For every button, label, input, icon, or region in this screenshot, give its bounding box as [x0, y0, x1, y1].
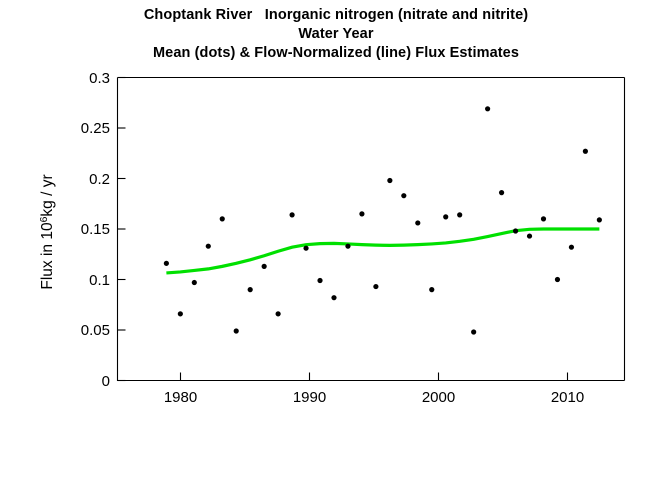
- data-point: [541, 216, 546, 221]
- y-tick-label-0.3: 0.3: [89, 70, 110, 87]
- y-tick-label-0.2: 0.2: [89, 171, 110, 188]
- data-point: [317, 278, 322, 283]
- data-point: [164, 261, 169, 266]
- data-point: [289, 212, 294, 217]
- x-tick-label-1980: 1980: [164, 389, 197, 406]
- y-tick-label-0.1: 0.1: [89, 272, 110, 289]
- data-point: [527, 233, 532, 238]
- data-point: [443, 214, 448, 219]
- plot-area: Flux in 106kg / yr 0.3 0.25 0.2 0.15 0.1…: [0, 0, 672, 480]
- data-point: [569, 245, 574, 250]
- data-point: [401, 193, 406, 198]
- data-point: [248, 287, 253, 292]
- data-point: [485, 106, 490, 111]
- data-point: [415, 220, 420, 225]
- data-point: [206, 244, 211, 249]
- data-point: [499, 190, 504, 195]
- y-tick-label-0.05: 0.05: [81, 322, 110, 339]
- mean-flux-dots: [164, 106, 602, 334]
- y-axis-label-pre: Flux in 10: [39, 222, 56, 290]
- data-point: [192, 280, 197, 285]
- flow-normalized-line: [166, 229, 599, 273]
- data-point: [373, 284, 378, 289]
- data-point: [457, 212, 462, 217]
- y-axis-label-post: kg / yr: [39, 174, 56, 216]
- data-point: [234, 328, 239, 333]
- data-point: [276, 311, 281, 316]
- data-point: [359, 211, 364, 216]
- y-tick-label-0.25: 0.25: [81, 120, 110, 137]
- data-point: [262, 264, 267, 269]
- data-point: [178, 311, 183, 316]
- y-axis-label: Flux in 106kg / yr: [38, 174, 56, 289]
- data-point: [303, 246, 308, 251]
- data-point: [429, 287, 434, 292]
- data-point: [220, 216, 225, 221]
- x-tick-label-2000: 2000: [422, 389, 455, 406]
- y-tick-label-0.15: 0.15: [81, 221, 110, 238]
- y-tick-label-0: 0: [102, 373, 110, 390]
- y-axis-ticks: [118, 78, 126, 381]
- chart-figure: Choptank River Inorganic nitrogen (nitra…: [0, 0, 672, 480]
- data-point: [331, 295, 336, 300]
- x-tick-label-2010: 2010: [551, 389, 584, 406]
- data-point: [555, 277, 560, 282]
- x-tick-label-1990: 1990: [293, 389, 326, 406]
- data-point: [597, 217, 602, 222]
- data-point: [513, 228, 518, 233]
- data-point: [345, 244, 350, 249]
- y-axis-tick-labels: 0.3 0.25 0.2 0.15 0.1 0.05 0: [81, 70, 110, 390]
- data-point: [583, 149, 588, 154]
- data-point: [471, 329, 476, 334]
- x-axis-ticks: [181, 373, 568, 381]
- x-axis-tick-labels: 1980 1990 2000 2010: [164, 389, 584, 406]
- data-point: [387, 178, 392, 183]
